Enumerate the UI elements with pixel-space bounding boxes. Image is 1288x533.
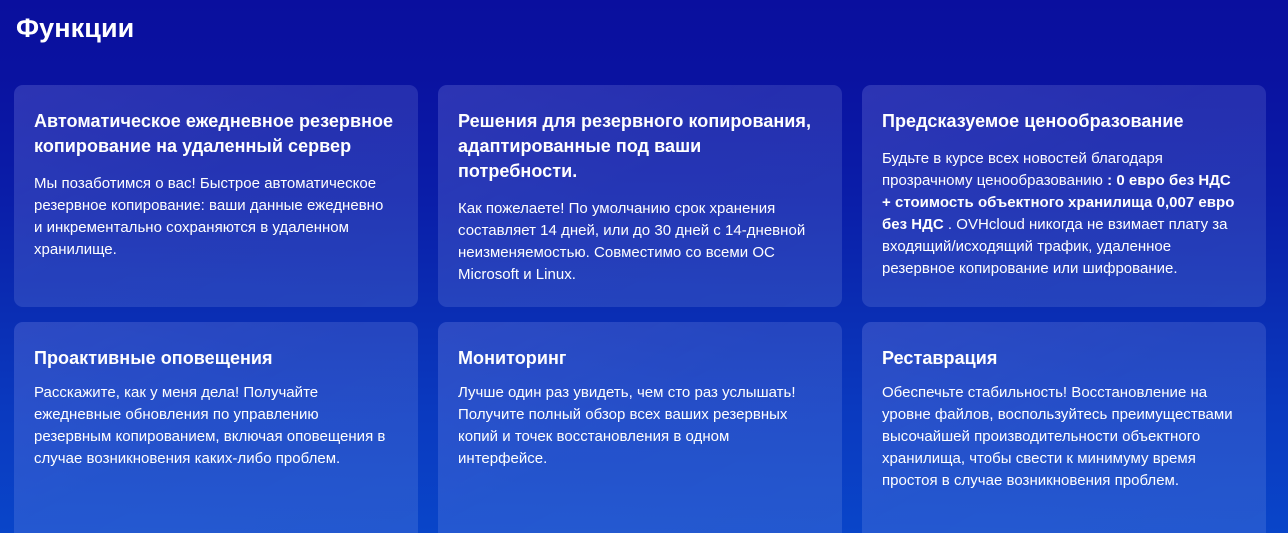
body-text: Расскажите, как у меня дела! Получайте е…: [34, 384, 385, 467]
body-text: Лучше один раз увидеть, чем сто раз услы…: [458, 384, 796, 467]
feature-card-body: Обеспечьте стабильность! Восстановление …: [882, 382, 1242, 492]
feature-card-title: Проактивные оповещения: [34, 346, 394, 371]
feature-card-title: Решения для резервного копирования, адап…: [458, 109, 818, 184]
feature-card-title: Реставрация: [882, 346, 1242, 371]
feature-card-title: Мониторинг: [458, 346, 818, 371]
body-text: Как пожелаете! По умолчанию срок хранени…: [458, 200, 805, 283]
feature-card-monitoring: Мониторинг Лучше один раз увидеть, чем с…: [438, 322, 842, 533]
feature-card-body: Мы позаботимся о вас! Быстрое автоматиче…: [34, 173, 394, 261]
feature-card-body: Как пожелаете! По умолчанию срок хранени…: [458, 198, 818, 286]
feature-cards-grid: Автоматическое ежедневное резервное копи…: [14, 85, 1274, 533]
feature-card-body: Лучше один раз увидеть, чем сто раз услы…: [458, 382, 818, 470]
feature-card-restoration: Реставрация Обеспечьте стабильность! Вос…: [862, 322, 1266, 533]
body-text: Мы позаботимся о вас! Быстрое автоматиче…: [34, 175, 383, 258]
features-section: Функции Автоматическое ежедневное резерв…: [0, 0, 1288, 533]
body-text: Обеспечьте стабильность! Восстановление …: [882, 384, 1233, 489]
page-title: Функции: [14, 0, 1274, 44]
feature-card-body: Расскажите, как у меня дела! Получайте е…: [34, 382, 394, 470]
feature-card-tailored-backup-solutions: Решения для резервного копирования, адап…: [438, 85, 842, 307]
feature-card-title: Предсказуемое ценообразование: [882, 109, 1242, 134]
feature-card-automatic-daily-backup: Автоматическое ежедневное резервное копи…: [14, 85, 418, 307]
feature-card-predictable-pricing: Предсказуемое ценообразование Будьте в к…: [862, 85, 1266, 307]
feature-card-title: Автоматическое ежедневное резервное копи…: [34, 109, 394, 159]
feature-card-proactive-alerts: Проактивные оповещения Расскажите, как у…: [14, 322, 418, 533]
feature-card-body: Будьте в курсе всех новостей благодаря п…: [882, 148, 1242, 280]
